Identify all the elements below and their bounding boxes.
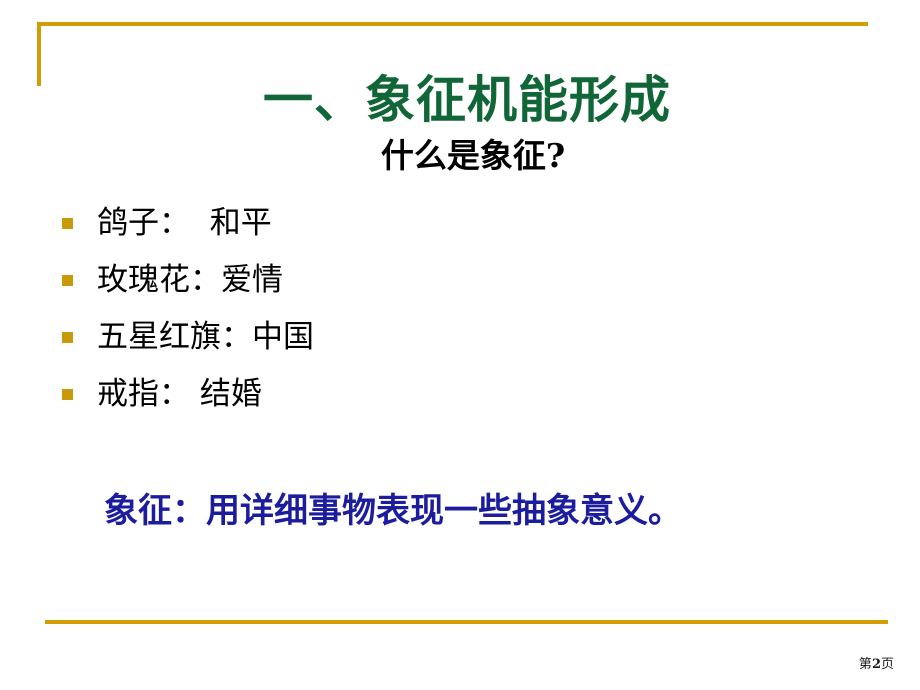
square-bullet-icon <box>62 218 73 229</box>
list-item: 五星红旗：中国 <box>62 312 762 369</box>
list-item-label: 鸽子： 和平 <box>97 198 762 248</box>
top-gold-rule <box>37 22 868 26</box>
page-number-footer: 第2页 <box>859 658 894 671</box>
slide-canvas: 一、象征机能形成 什么是象征? 鸽子： 和平 玫瑰花：爱情 五星红旗：中国 戒指… <box>0 0 920 690</box>
list-item-label: 戒指： 结婚 <box>97 369 762 419</box>
list-item-label: 玫瑰花：爱情 <box>97 255 762 305</box>
page-title: 一、象征机能形成 <box>0 72 920 128</box>
list-item: 玫瑰花：爱情 <box>62 255 762 312</box>
symbol-examples-list: 鸽子： 和平 玫瑰花：爱情 五星红旗：中国 戒指： 结婚 <box>62 198 762 426</box>
square-bullet-icon <box>62 389 73 400</box>
bottom-gold-rule <box>45 620 888 624</box>
square-bullet-icon <box>62 332 73 343</box>
page-number-suffix: 页 <box>881 657 894 672</box>
subtitle-question: 什么是象征? <box>0 136 920 176</box>
list-item-label: 五星红旗：中国 <box>97 312 762 362</box>
page-number-prefix: 第 <box>859 657 872 672</box>
definition-statement: 象征：用详细事物表现一些抽象意义。 <box>104 490 682 533</box>
page-number-value: 2 <box>872 657 881 672</box>
list-item: 戒指： 结婚 <box>62 369 762 426</box>
list-item: 鸽子： 和平 <box>62 198 762 255</box>
square-bullet-icon <box>62 275 73 286</box>
